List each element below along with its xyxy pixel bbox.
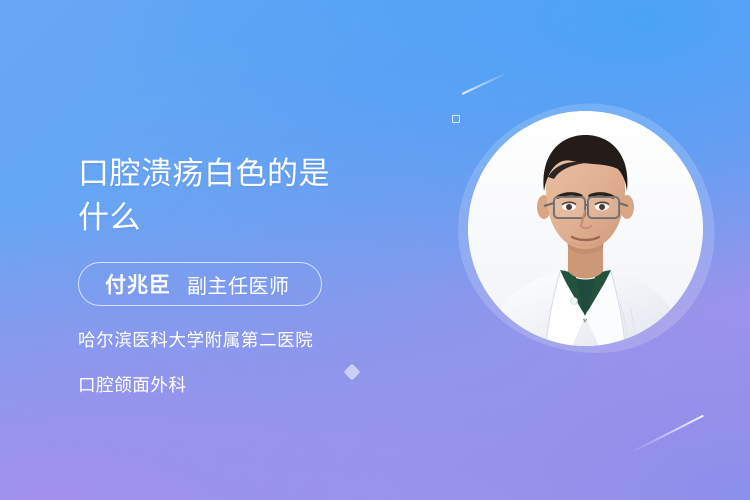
doctor-photo [468, 111, 703, 346]
page-title: 口腔溃疡白色的是 什么 [78, 152, 418, 240]
streak-line-icon [462, 73, 506, 95]
info-column: 口腔溃疡白色的是 什么 付兆臣 副主任医师 哈尔滨医科大学附属第二医院 口腔颌面… [78, 152, 418, 397]
square-outline-icon [452, 115, 460, 123]
doctor-credential-badge: 付兆臣 副主任医师 [78, 262, 322, 306]
doctor-qa-banner: 口腔溃疡白色的是 什么 付兆臣 副主任医师 哈尔滨医科大学附属第二医院 口腔颌面… [0, 0, 750, 500]
doctor-avatar [468, 111, 703, 346]
doctor-name: 付兆臣 [105, 269, 171, 299]
doctor-hospital: 哈尔滨医科大学附属第二医院 [78, 328, 418, 352]
doctor-rank: 副主任医师 [187, 270, 290, 299]
streak-line-icon [634, 415, 704, 452]
doctor-department: 口腔颌面外科 [78, 373, 418, 397]
